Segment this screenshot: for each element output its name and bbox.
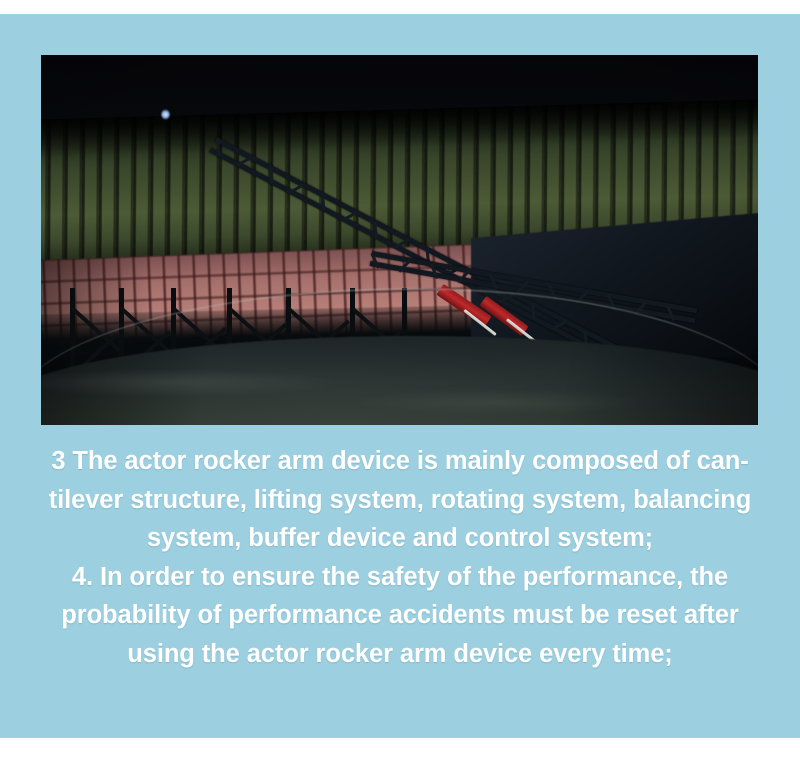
caption-line-1: 3 The actor rocker arm device is mainly … [36,442,764,481]
site-photo [41,55,758,425]
photo-vignette [41,55,758,425]
caption-block: 3 The actor rocker arm device is mainly … [0,442,800,673]
photo-frame [41,55,758,425]
caption-line-4: 4. In order to ensure the safety of the … [36,558,764,597]
caption-line-5: probability of performance accidents mus… [36,596,764,635]
caption-line-3: system, buffer device and control system… [36,519,764,558]
caption-line-6: using the actor rocker arm device every … [36,635,764,674]
content-card: 3 The actor rocker arm device is mainly … [0,14,800,738]
caption-line-2: tilever structure, lifting system, rotat… [36,481,764,520]
page-root: 3 The actor rocker arm device is mainly … [0,0,800,763]
